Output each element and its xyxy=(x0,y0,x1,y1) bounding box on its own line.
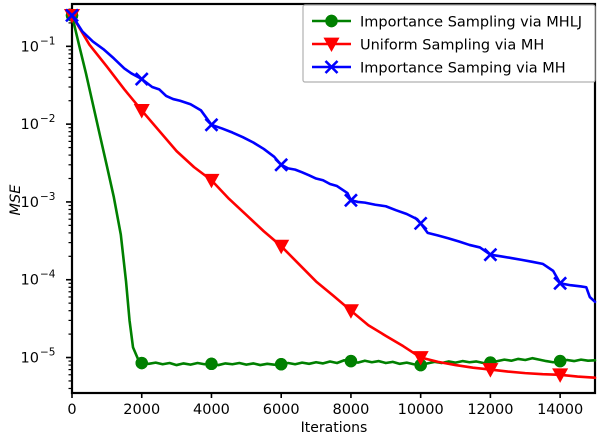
data-point-marker xyxy=(555,356,565,366)
svg-text:−2: −2 xyxy=(40,113,55,125)
x-tick-label: 0 xyxy=(67,402,76,418)
data-point-marker xyxy=(346,356,356,366)
x-tick-label: 4000 xyxy=(193,402,230,418)
svg-text:10: 10 xyxy=(21,351,39,367)
svg-text:−5: −5 xyxy=(40,347,55,359)
svg-text:−3: −3 xyxy=(40,191,55,203)
mse-convergence-plot: 02000400060008000100001200014000 10−110−… xyxy=(0,0,602,440)
x-axis-label: Iterations xyxy=(301,420,368,436)
x-tick-label: 10000 xyxy=(398,402,444,418)
chart-legend[interactable]: Importance Sampling via MHLJUniform Samp… xyxy=(303,5,595,82)
svg-text:10: 10 xyxy=(21,117,39,133)
chart-figure: 02000400060008000100001200014000 10−110−… xyxy=(0,0,602,440)
x-tick-label: 14000 xyxy=(537,402,583,418)
y-axis-label: MSE xyxy=(8,184,24,216)
svg-text:−4: −4 xyxy=(40,269,56,281)
legend-label: Uniform Sampling via MH xyxy=(360,38,544,54)
x-tick-label: 12000 xyxy=(467,402,513,418)
svg-text:−1: −1 xyxy=(40,35,55,47)
x-tick-label: 8000 xyxy=(332,402,369,418)
legend-label: Importance Sampling via MHLJ xyxy=(360,15,582,31)
data-point-marker xyxy=(276,359,286,369)
data-point-marker xyxy=(326,16,336,26)
x-tick-label: 6000 xyxy=(263,402,300,418)
data-point-marker xyxy=(137,358,147,368)
legend-label: Importance Samping via MH xyxy=(360,61,566,77)
svg-text:10: 10 xyxy=(21,39,39,55)
x-tick-label: 2000 xyxy=(123,402,160,418)
svg-text:10: 10 xyxy=(21,273,39,289)
data-point-marker xyxy=(206,359,216,369)
